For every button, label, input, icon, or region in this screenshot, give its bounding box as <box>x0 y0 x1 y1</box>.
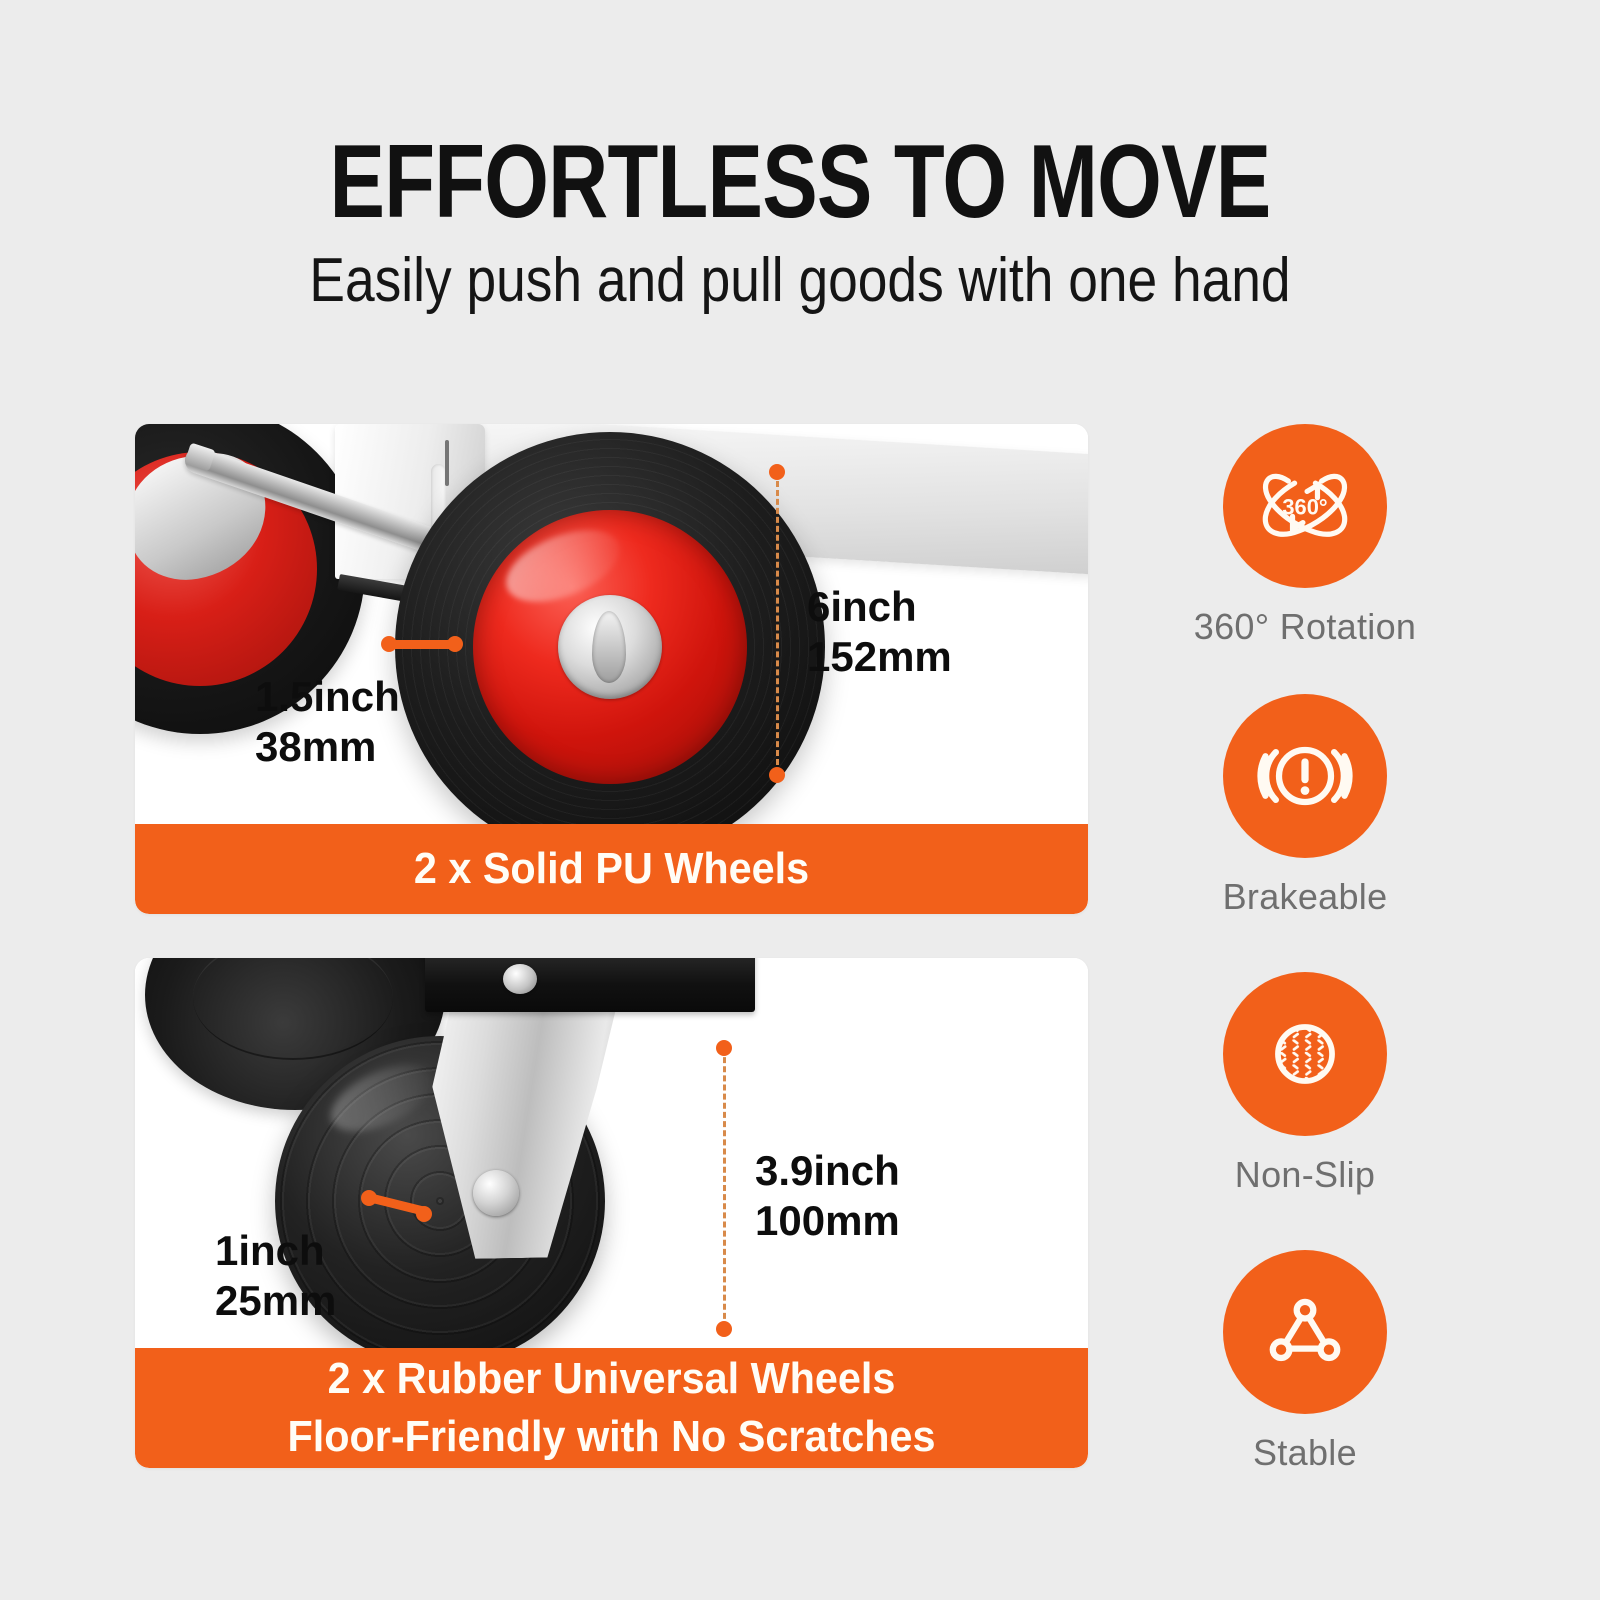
dimension-label-wheel-diameter: 6inch 152mm <box>807 582 952 682</box>
caster-mount-screw <box>503 964 537 994</box>
feature-icon-badge <box>1223 972 1387 1136</box>
tread-pattern-icon <box>1253 1002 1357 1106</box>
dimension-dot-diameter-bottom <box>716 1321 732 1337</box>
360-rotation-icon: 360° <box>1253 454 1357 558</box>
dimension-label-wheel-diameter: 3.9inch 100mm <box>755 1146 900 1246</box>
page-subtitle: Easily push and pull goods with one hand <box>112 248 1488 314</box>
feature-icon-badge <box>1223 694 1387 858</box>
product-photo-solid-pu-wheel: 1.5inch 38mm 6inch 152mm <box>135 424 1088 824</box>
wheel-hub-cap <box>558 595 662 699</box>
triangle-nodes-icon <box>1253 1280 1357 1384</box>
feature-label: Non-Slip <box>1150 1154 1460 1196</box>
product-card-solid-pu-wheels: 1.5inch 38mm 6inch 152mm 2 x Solid PU Wh… <box>135 424 1088 914</box>
dimension-label-tire-width: 1.5inch 38mm <box>255 672 400 772</box>
feature-label: Brakeable <box>1150 876 1460 918</box>
feature-icon-badge: 360° <box>1223 424 1387 588</box>
dimension-dot-diameter-bottom <box>769 767 785 783</box>
card-banner-solid-pu-wheels: 2 x Solid PU Wheels <box>135 824 1088 914</box>
feature-item-non-slip: Non-Slip <box>1150 972 1460 1196</box>
dimension-label-tire-width: 1inch 25mm <box>215 1226 336 1326</box>
dimension-value-imperial: 1.5inch <box>255 672 400 722</box>
dimension-value-metric: 100mm <box>755 1196 900 1246</box>
feature-item-stable: Stable <box>1150 1250 1460 1474</box>
caster-mount-plate <box>425 958 755 1012</box>
dimension-dot-tire-width-right <box>447 636 463 652</box>
dimension-value-imperial: 1inch <box>215 1226 336 1276</box>
dimension-dot-diameter-top <box>716 1040 732 1056</box>
dimension-value-imperial: 3.9inch <box>755 1146 900 1196</box>
feature-label: 360° Rotation <box>1150 606 1460 648</box>
banner-line: 2 x Rubber Universal Wheels <box>164 1350 1060 1408</box>
product-card-rubber-universal-wheels: 1inch 25mm 3.9inch 100mm 2 x Rubber Univ… <box>135 958 1088 1468</box>
page-title: EFFORTLESS TO MOVE <box>160 130 1440 234</box>
dimension-dot-tire-width-left <box>361 1190 377 1206</box>
dimension-value-metric: 25mm <box>215 1276 336 1326</box>
feature-item-brakeable: Brakeable <box>1150 694 1460 918</box>
dimension-value-imperial: 6inch <box>807 582 952 632</box>
feature-list: 360° 360° Rotation Brakeable <box>1150 424 1460 1514</box>
banner-line: 2 x Solid PU Wheels <box>164 824 1060 914</box>
product-photo-caster-wheel: 1inch 25mm 3.9inch 100mm <box>135 958 1088 1348</box>
dimension-value-metric: 38mm <box>255 722 400 772</box>
dimension-line-wheel-diameter <box>776 472 779 774</box>
hub-pin <box>445 440 449 486</box>
brake-icon <box>1253 724 1357 828</box>
dimension-dot-tire-width-right <box>416 1206 432 1222</box>
feature-item-360-rotation: 360° 360° Rotation <box>1150 424 1460 648</box>
dimension-value-metric: 152mm <box>807 632 952 682</box>
svg-text:360°: 360° <box>1282 494 1327 519</box>
dimension-dot-diameter-top <box>769 464 785 480</box>
dimension-line-wheel-diameter <box>723 1048 726 1328</box>
dimension-dot-tire-width-left <box>381 636 397 652</box>
card-banner-rubber-universal-wheels: 2 x Rubber Universal Wheels Floor-Friend… <box>135 1348 1088 1468</box>
header: EFFORTLESS TO MOVE Easily push and pull … <box>0 0 1600 380</box>
feature-label: Stable <box>1150 1432 1460 1474</box>
banner-line: Floor-Friendly with No Scratches <box>164 1408 1060 1466</box>
caster-axle-boss <box>473 1170 519 1216</box>
feature-icon-badge <box>1223 1250 1387 1414</box>
